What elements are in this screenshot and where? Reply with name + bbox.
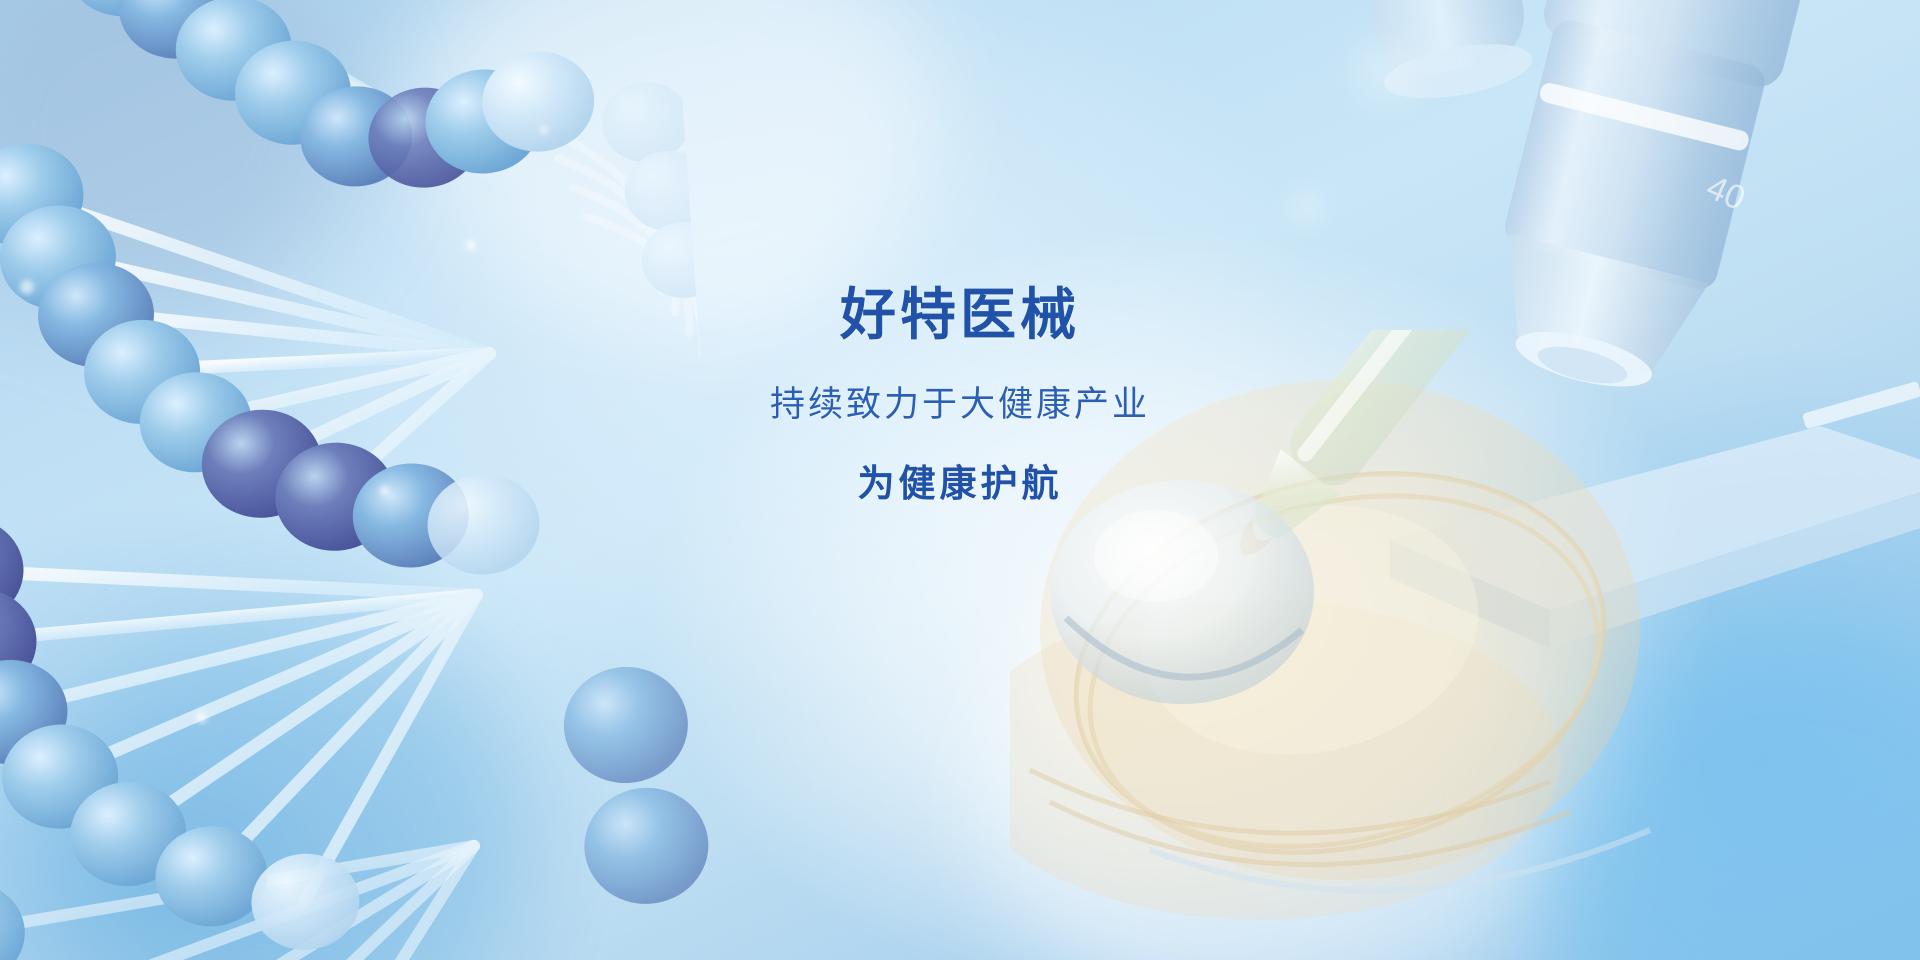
hero-subheadline: 持续致力于大健康产业 [0,384,1920,426]
bokeh-speck [540,126,548,134]
page-title: 好特医械 [0,282,1920,348]
bg-blob-5 [0,0,360,320]
bg-blob-1 [420,0,940,330]
bg-blob-4 [1540,620,1920,960]
bg-blob-2 [980,520,1600,960]
hero-banner: 40 [0,0,1920,960]
hero-slogan: 为健康护航 [0,462,1920,506]
bokeh-speck [196,712,207,723]
bokeh-speck [1290,190,1324,224]
svg-text:40: 40 [1701,168,1751,218]
bg-blob-3 [60,620,520,960]
hero-text-block: 好特医械 持续致力于大健康产业 为健康护航 [0,282,1920,506]
bokeh-speck [1356,40,1416,100]
bokeh-speck [466,240,476,250]
